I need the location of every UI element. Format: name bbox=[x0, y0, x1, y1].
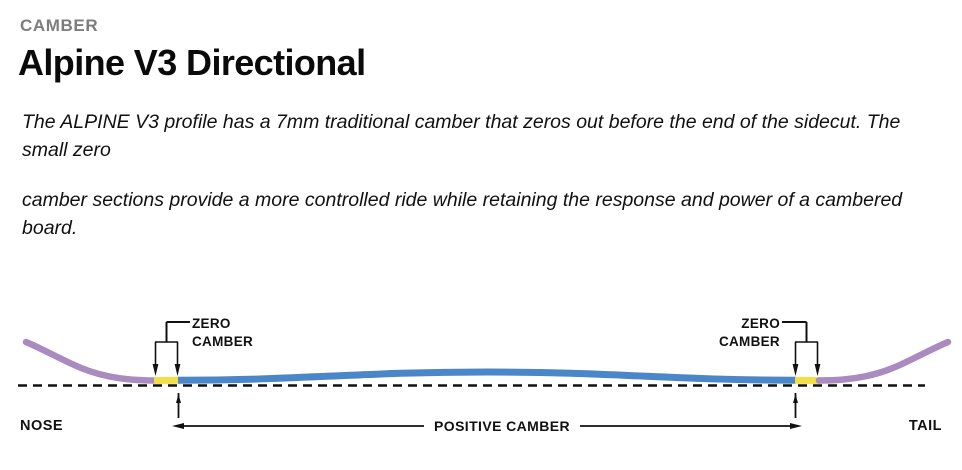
positive-camber-segment bbox=[178, 372, 796, 380]
positive-camber-right-extension-head bbox=[793, 394, 798, 403]
nose-label: NOSE bbox=[20, 418, 63, 434]
board-profile-graphic bbox=[26, 342, 948, 381]
positive-camber-label: POSITIVE CAMBER bbox=[434, 418, 570, 434]
zero-camber-left-label-line1: ZERO bbox=[192, 316, 231, 331]
page-eyebrow-label: CAMBER bbox=[20, 16, 98, 36]
zero-camber-left-label-line2: CAMBER bbox=[192, 334, 253, 349]
tail-tip-segment bbox=[819, 342, 948, 381]
zero-camber-left-arrow-b-head bbox=[175, 364, 181, 376]
positive-camber-arrow-left bbox=[172, 423, 184, 429]
positive-camber-arrow-right bbox=[790, 423, 802, 429]
zero-camber-callout-right: ZERO CAMBER bbox=[719, 316, 820, 376]
zero-camber-callout-left: ZERO CAMBER bbox=[153, 316, 253, 376]
page-title: Alpine V3 Directional bbox=[18, 42, 366, 84]
positive-camber-left-extension-head bbox=[176, 394, 181, 403]
description-paragraph-2: camber sections provide a more controlle… bbox=[22, 186, 922, 242]
camber-profile-page: CAMBER Alpine V3 Directional The ALPINE … bbox=[0, 0, 962, 470]
camber-profile-diagram: ZERO CAMBER ZERO CAMBER bbox=[0, 290, 962, 470]
zero-camber-right-arrow-a-head bbox=[793, 364, 799, 376]
zero-camber-right-label-line1: ZERO bbox=[741, 316, 780, 331]
zero-camber-left-arrow-a-head bbox=[153, 364, 159, 376]
description-block: The ALPINE V3 profile has a 7mm traditio… bbox=[22, 108, 922, 242]
positive-camber-dimension: POSITIVE CAMBER bbox=[172, 393, 802, 434]
description-paragraph-1: The ALPINE V3 profile has a 7mm traditio… bbox=[22, 108, 922, 164]
zero-camber-right-label-line2: CAMBER bbox=[719, 334, 780, 349]
zero-camber-right-arrow-b-head bbox=[815, 364, 821, 376]
tail-label: TAIL bbox=[909, 418, 942, 434]
nose-tip-segment bbox=[26, 342, 155, 381]
